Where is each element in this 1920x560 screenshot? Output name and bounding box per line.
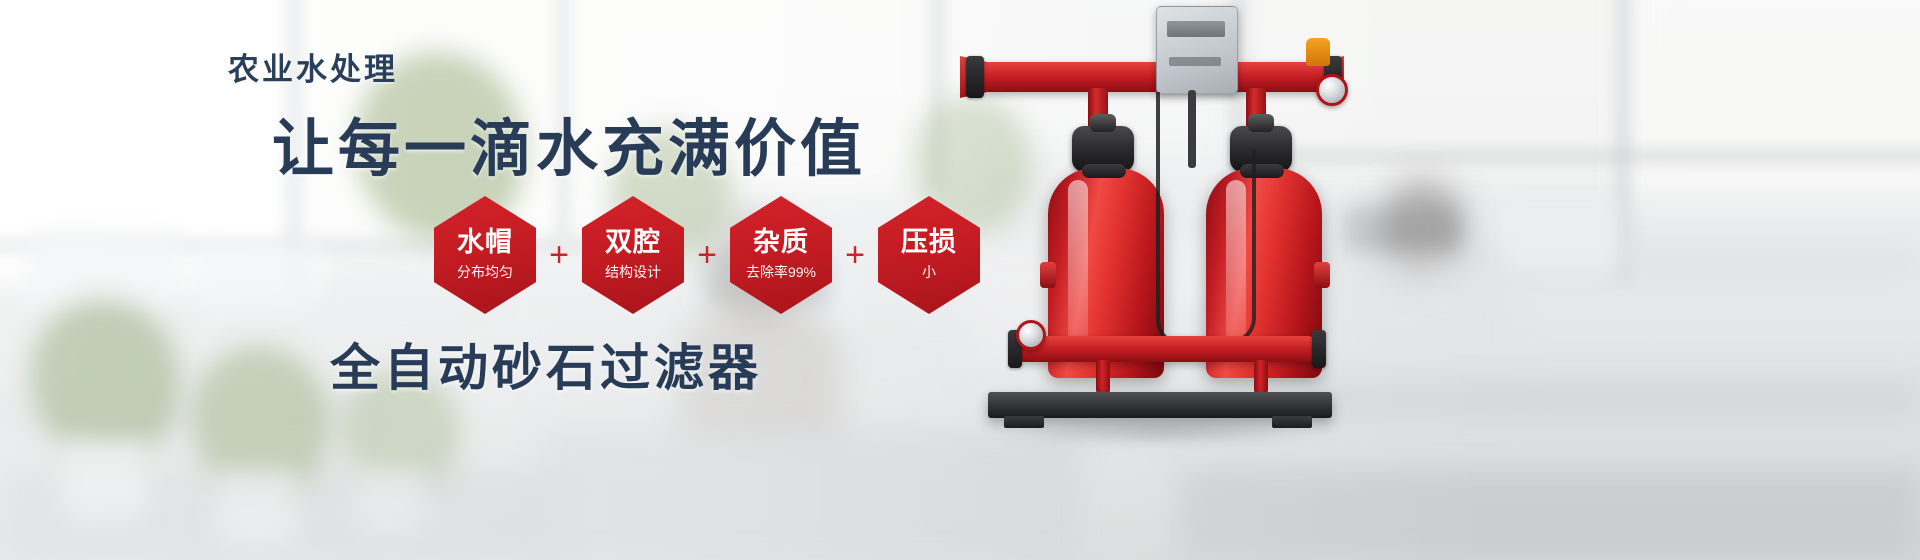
valve-cap [1090,114,1116,132]
feature-badge-subtitle: 分布均匀 [457,262,513,282]
banner-eyebrow: 农业水处理 [228,44,398,89]
pressure-gauge [1316,74,1348,106]
side-nozzle [1040,262,1056,288]
feature-badge-title: 双腔 [605,228,661,256]
tank-access-lid [1082,164,1126,178]
controller-box [1156,6,1238,94]
pressure-gauge [1016,320,1046,350]
tank-highlight [1068,180,1088,360]
side-nozzle [1314,262,1330,288]
feature-badge-title: 压损 [901,228,957,256]
plus-icon: + [684,196,730,314]
bottom-manifold-pipe [1016,336,1316,362]
feature-badge-2: 双腔 结构设计 [582,196,684,314]
feature-badge-title: 水帽 [457,228,513,256]
feature-badge-title: 杂质 [753,228,809,256]
drain-outlet [1254,360,1268,394]
feature-badge-1: 水帽 分布均匀 [434,196,536,314]
feature-badge-subtitle: 结构设计 [605,262,661,282]
top-manifold-pipe [980,62,1330,92]
banner-headline: 让每一滴水充满价值 [272,98,866,188]
controller-label [1169,57,1221,66]
pipe-flange [1312,330,1326,368]
product-image [960,0,1440,560]
valve-cap [1248,114,1274,132]
control-tubing [1196,150,1256,344]
relief-valve [1306,38,1330,66]
pipe-flange [966,56,984,98]
feature-badge-row: 水帽 分布均匀 + 双腔 结构设计 + 杂质 去除率99% + 压损 小 [434,196,980,314]
skid-foot [1004,416,1044,428]
hero-banner: 农业水处理 让每一滴水充满价值 全自动砂石过滤器 水帽 分布均匀 + 双腔 结构… [0,0,1920,560]
feature-badge-subtitle: 去除率99% [746,262,816,282]
feature-badge-3: 杂质 去除率99% [730,196,832,314]
steel-skid-base [988,392,1332,418]
drain-outlet [1096,360,1110,394]
plus-icon: + [536,196,582,314]
plus-icon: + [832,196,878,314]
feature-badge-subtitle: 小 [922,262,936,282]
skid-foot [1272,416,1312,428]
controller-display [1167,21,1225,37]
banner-subheadline: 全自动砂石过滤器 [330,328,762,400]
